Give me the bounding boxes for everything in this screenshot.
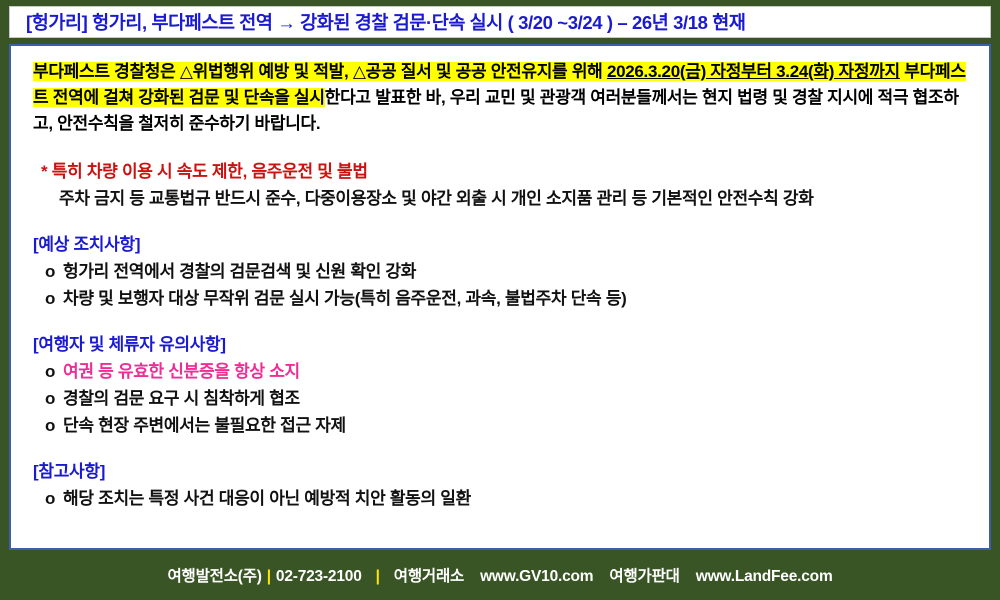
list-item-text: 여권 등 유효한 신분증을 항상 소지 (63, 362, 300, 381)
alert-line-2: 주차 금지 등 교통법규 반드시 준수, 다중이용장소 및 야간 외출 시 개인… (59, 186, 975, 212)
notice-body: 부다페스트 경찰청은 △위법행위 예방 및 적발, △공공 질서 및 공공 안전… (9, 44, 991, 550)
footer-site-2[interactable]: www.LandFee.com (696, 568, 833, 585)
lead-part1: 부다페스트 경찰청은 △위법행위 예방 및 적발, △공공 질서 및 공공 안전… (33, 62, 607, 81)
section-traveler-notes: [여행자 및 체류자 유의사항] 여권 등 유효한 신분증을 항상 소지 경찰의… (33, 332, 975, 439)
list-item-text: 해당 조치는 특정 사건 대응이 아닌 예방적 치안 활동의 일환 (63, 489, 471, 508)
bullet-list: 헝가리 전역에서 경찰의 검문검색 및 신원 확인 강화 차량 및 보행자 대상… (33, 258, 975, 312)
footer-separator-2: | (371, 568, 385, 585)
section-reference: [참고사항] 해당 조치는 특정 사건 대응이 아닌 예방적 치안 활동의 일환 (33, 459, 975, 512)
lead-paragraph: 부다페스트 경찰청은 △위법행위 예방 및 적발, △공공 질서 및 공공 안전… (33, 59, 973, 137)
footer-site-1[interactable]: www.GV10.com (480, 568, 593, 585)
header-bar: [헝가리] 헝가리, 부다페스트 전역 → 강화된 경찰 검문·단속 실시 ( … (9, 6, 991, 38)
list-item: 헝가리 전역에서 경찰의 검문검색 및 신원 확인 강화 (33, 258, 975, 285)
list-item-text: 헝가리 전역에서 경찰의 검문검색 및 신원 확인 강화 (63, 262, 416, 281)
footer-separator-1: | (262, 568, 276, 585)
notice-page: [헝가리] 헝가리, 부다페스트 전역 → 강화된 경찰 검문·단속 실시 ( … (0, 0, 1000, 600)
footer-bar: 여행발전소(주)|02-723-2100|여행거래소www.GV10.com여행… (0, 550, 1000, 600)
alert-block: * 특히 차량 이용 시 속도 제한, 음주운전 및 불법 주차 금지 등 교통… (33, 159, 975, 212)
list-item: 차량 및 보행자 대상 무작위 검문 실시 가능(특히 음주운전, 과속, 불법… (33, 285, 975, 312)
section-heading: [예상 조치사항] (33, 232, 975, 258)
footer-phone: 02-723-2100 (276, 568, 362, 585)
list-item: 단속 현장 주변에서는 불필요한 접근 자제 (33, 412, 975, 439)
list-item: 해당 조치는 특정 사건 대응이 아닌 예방적 치안 활동의 일환 (33, 485, 975, 512)
section-expected-measures: [예상 조치사항] 헝가리 전역에서 경찰의 검문검색 및 신원 확인 강화 차… (33, 232, 975, 312)
footer-company: 여행발전소(주) (167, 568, 261, 585)
footer-content: 여행발전소(주)|02-723-2100|여행거래소www.GV10.com여행… (167, 564, 832, 586)
list-item-text: 경찰의 검문 요구 시 침착하게 협조 (63, 389, 300, 408)
list-item-highlighted: 여권 등 유효한 신분증을 항상 소지 (33, 358, 975, 385)
alert-line-1: * 특히 차량 이용 시 속도 제한, 음주운전 및 불법 (41, 162, 368, 181)
list-item: 경찰의 검문 요구 시 침착하게 협조 (33, 385, 975, 412)
section-heading: [참고사항] (33, 459, 975, 485)
bullet-list: 여권 등 유효한 신분증을 항상 소지 경찰의 검문 요구 시 침착하게 협조 … (33, 358, 975, 439)
footer-brand-2: 여행가판대 (609, 568, 679, 585)
lead-part2-underlined: 2026.3.20(금) 자정부터 3.24(화) 자정까지 (607, 62, 900, 81)
list-item-text: 차량 및 보행자 대상 무작위 검문 실시 가능(특히 음주운전, 과속, 불법… (63, 289, 627, 308)
footer-brand-1: 여행거래소 (394, 568, 464, 585)
list-item-text: 단속 현장 주변에서는 불필요한 접근 자제 (63, 416, 346, 435)
bullet-list: 해당 조치는 특정 사건 대응이 아닌 예방적 치안 활동의 일환 (33, 485, 975, 512)
page-title: [헝가리] 헝가리, 부다페스트 전역 → 강화된 경찰 검문·단속 실시 ( … (10, 9, 746, 35)
section-heading: [여행자 및 체류자 유의사항] (33, 332, 975, 358)
